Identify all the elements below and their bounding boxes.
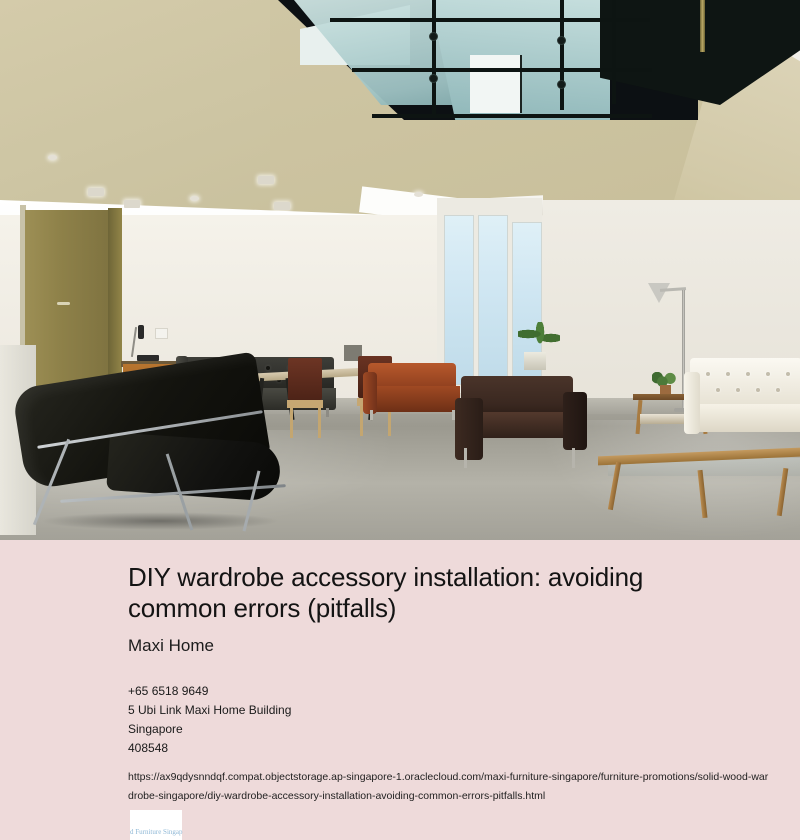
potted-palm-plant bbox=[330, 288, 394, 358]
door-handle bbox=[57, 302, 70, 305]
door-edge bbox=[108, 208, 122, 394]
railing-rail-top bbox=[330, 18, 650, 22]
armchair-leg-left bbox=[464, 448, 467, 468]
small-plant bbox=[518, 322, 560, 356]
sofa-leg-right bbox=[326, 408, 329, 417]
downlight-7 bbox=[414, 192, 423, 197]
railing-knob-1 bbox=[429, 32, 438, 41]
article-url-line-1: https://ax9qdysnndqf.compat.objectstorag… bbox=[128, 768, 672, 787]
article-url[interactable]: https://ax9qdysnndqf.compat.objectstorag… bbox=[128, 768, 672, 806]
contact-postal-code: 408548 bbox=[128, 739, 672, 758]
white-sofa-back bbox=[690, 358, 800, 406]
related-link-thumbnail bbox=[130, 810, 182, 828]
brass-post bbox=[700, 0, 705, 52]
leather-armchair-arm-right bbox=[563, 392, 587, 450]
article-url-line-2: drobe-singapore/diy-wardrobe-accessory-i… bbox=[128, 787, 672, 806]
wall-outlet bbox=[155, 328, 168, 339]
wooden-door bbox=[25, 210, 113, 392]
contact-city: Singapore bbox=[128, 720, 672, 739]
related-link-caption: d Furniture Singap bbox=[130, 828, 196, 836]
downlight-2 bbox=[88, 188, 104, 196]
downlight-1 bbox=[48, 155, 57, 160]
leather-armchair-arm-left bbox=[455, 398, 483, 460]
small-plant-pot bbox=[524, 352, 546, 370]
downlight-8 bbox=[274, 202, 290, 210]
floor-lamp-shade bbox=[648, 283, 670, 303]
railing-knob-2 bbox=[429, 74, 438, 83]
mezzanine-doorway bbox=[470, 55, 522, 113]
page-title: DIY wardrobe accessory installation: avo… bbox=[128, 562, 672, 623]
railing-post-2 bbox=[560, 0, 564, 110]
article-content: DIY wardrobe accessory installation: avo… bbox=[0, 540, 800, 840]
railing-knob-4 bbox=[557, 80, 566, 89]
railing-post-3 bbox=[612, 0, 616, 104]
contact-phone[interactable]: +65 6518 9649 bbox=[128, 682, 672, 701]
downlight-5 bbox=[258, 176, 274, 184]
cognac-sofa-arm bbox=[363, 372, 377, 414]
downlight-3 bbox=[124, 200, 140, 208]
desk-lamp-head bbox=[138, 325, 144, 339]
railing-rail-mid bbox=[352, 68, 652, 72]
contact-address-line1: 5 Ubi Link Maxi Home Building bbox=[128, 701, 672, 720]
cognac-sofa-seat bbox=[364, 386, 460, 412]
downlight-4 bbox=[190, 196, 199, 201]
railing-knob-3 bbox=[557, 36, 566, 45]
window-pane-1 bbox=[444, 215, 474, 385]
cognac-leg-left bbox=[370, 410, 373, 420]
related-link-card[interactable]: d Furniture Singap bbox=[130, 810, 182, 840]
railing-rail-low bbox=[372, 114, 652, 118]
white-sofa-arm bbox=[684, 372, 700, 434]
company-name: Maxi Home bbox=[128, 636, 672, 656]
railing-post-1 bbox=[432, 0, 436, 118]
armchair-leg-right bbox=[572, 448, 575, 468]
window-pane-2 bbox=[478, 215, 508, 385]
hero-photo bbox=[0, 0, 800, 540]
white-sofa-seat bbox=[686, 404, 800, 432]
contact-block: +65 6518 9649 5 Ubi Link Maxi Home Build… bbox=[128, 682, 672, 758]
